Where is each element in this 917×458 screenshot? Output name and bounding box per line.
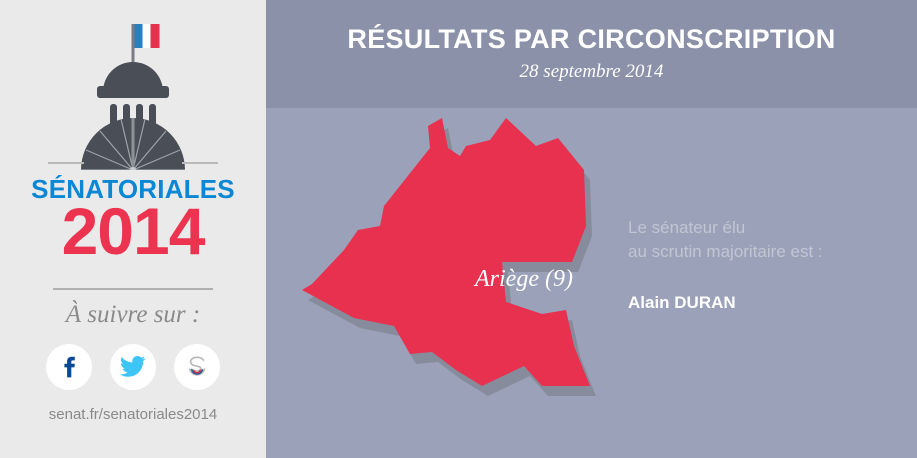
senator-name: Alain DURAN <box>628 294 898 311</box>
facebook-icon <box>56 354 82 380</box>
logo-rule-right <box>182 162 218 164</box>
french-flag-icon <box>135 24 160 48</box>
sidebar-divider <box>53 288 213 290</box>
page-subtitle: 28 septembre 2014 <box>266 62 917 81</box>
facebook-link[interactable] <box>46 344 92 390</box>
brand-year: 2014 <box>0 198 266 264</box>
twitter-icon <box>120 355 146 379</box>
senate-logo <box>0 18 266 170</box>
senate-dome-icon <box>53 18 213 170</box>
result-line-1: Le sénateur élu <box>628 216 898 240</box>
header-band: RÉSULTATS PAR CIRCONSCRIPTION 28 septemb… <box>266 0 917 108</box>
social-links <box>0 344 266 390</box>
follow-label: À suivre sur : <box>0 302 266 327</box>
map-stage: Ariège (9) Le sénateur élu au scrutin ma… <box>266 108 917 458</box>
result-line-2: au scrutin majoritaire est : <box>628 240 898 264</box>
sidebar: SÉNATORIALES 2014 À suivre sur : <box>0 0 266 458</box>
page-title: RÉSULTATS PAR CIRCONSCRIPTION <box>266 26 917 53</box>
logo-rule-left <box>48 162 84 164</box>
site-url[interactable]: senat.fr/senatoriales2014 <box>0 407 266 422</box>
twitter-link[interactable] <box>110 344 156 390</box>
senat-icon <box>182 352 212 382</box>
map-fill[interactable] <box>302 118 590 386</box>
senat-link[interactable] <box>174 344 220 390</box>
result-block: Le sénateur élu au scrutin majoritaire e… <box>628 216 898 311</box>
infographic-canvas: SÉNATORIALES 2014 À suivre sur : <box>0 0 917 458</box>
